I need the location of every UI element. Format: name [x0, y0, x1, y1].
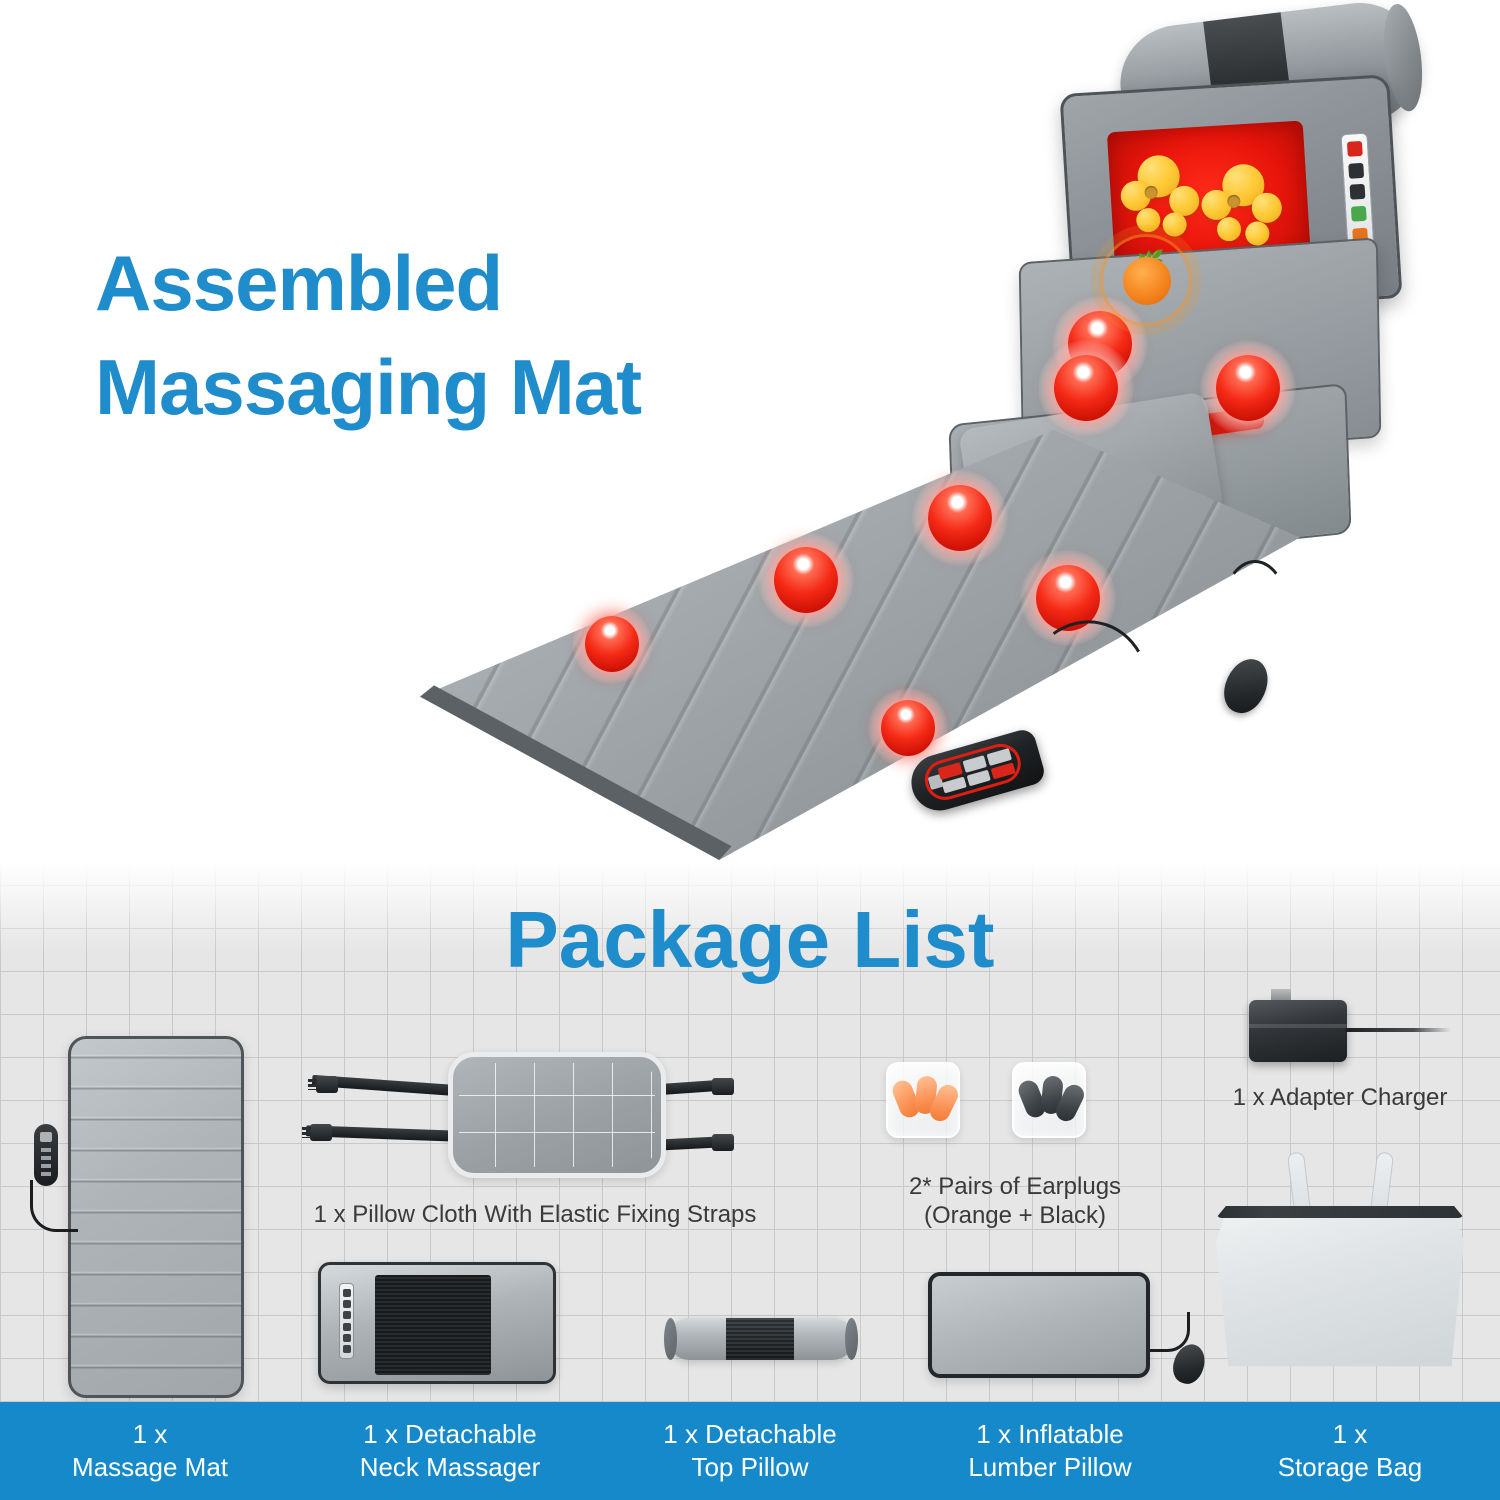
item-mat-remote-icon: [34, 1124, 58, 1186]
strap-buckle-icon: [316, 1076, 338, 1093]
item-neck-massager-image: [318, 1262, 556, 1384]
caption-adapter-charger: 1 x Adapter Charger: [1180, 1083, 1500, 1112]
item-mat-cord: [30, 1180, 78, 1232]
speed-button-icon[interactable]: [1350, 184, 1366, 200]
label-top-pillow: 1 x Detachable Top Pillow: [600, 1402, 900, 1500]
label-line2: Storage Bag: [1278, 1451, 1423, 1484]
label-line1: 1 x Detachable: [363, 1418, 536, 1451]
mat-quilt-channels: [420, 430, 1300, 860]
vibration-node-icon: [758, 532, 854, 628]
power-button-icon[interactable]: [1347, 141, 1363, 157]
caption-pillow-cloth: 1 x Pillow Cloth With Elastic Fixing Str…: [200, 1200, 870, 1229]
strap-buckle-icon: [712, 1134, 734, 1151]
neck-massager-mesh-panel: [375, 1275, 491, 1375]
strap-buckle-icon: [310, 1124, 332, 1141]
label-massage-mat: 1 x Massage Mat: [0, 1402, 300, 1500]
pillow-mesh-band: [726, 1318, 794, 1360]
package-list-title: Package List: [0, 894, 1500, 986]
item-adapter-charger-image: [1249, 1000, 1347, 1062]
vibration-node-icon: [912, 470, 1008, 566]
heat-button-icon[interactable]: [1351, 206, 1367, 222]
label-line2: Massage Mat: [72, 1451, 228, 1484]
aroma-node-icon: 🌿: [1100, 234, 1192, 326]
bag-zipper: [1216, 1206, 1464, 1218]
item-lumbar-pillow-image: [928, 1272, 1150, 1378]
item-pillow-cloth-image: [448, 1052, 666, 1178]
adapter-cable: [1345, 1028, 1451, 1032]
caption-earplugs-line1: 2* Pairs of Earplugs: [870, 1172, 1160, 1201]
label-storage-bag: 1 x Storage Bag: [1200, 1402, 1500, 1500]
vibration-node-icon: [1200, 340, 1296, 436]
kneading-node-cluster-left: [1118, 151, 1201, 248]
mode-button-icon[interactable]: [1348, 163, 1364, 179]
item-storage-bag-image: [1216, 1205, 1464, 1373]
neck-massager-control-panel[interactable]: [1340, 133, 1374, 252]
item-earplugs-orange-image: [886, 1062, 960, 1138]
label-line2: Neck Massager: [360, 1451, 541, 1484]
label-line1: 1 x: [133, 1418, 168, 1451]
leaf-icon: 🌿: [1137, 251, 1161, 273]
caption-earplugs-line2: (Orange + Black): [870, 1201, 1160, 1230]
vibration-node-icon: [572, 604, 652, 684]
vibration-node-icon: [1038, 340, 1134, 436]
item-top-pillow-image: [668, 1318, 854, 1360]
label-neck-massager: 1 x Detachable Neck Massager: [300, 1402, 600, 1500]
caption-earplugs: 2* Pairs of Earplugs (Orange + Black): [870, 1172, 1160, 1231]
label-line2: Lumber Pillow: [968, 1451, 1131, 1484]
strap-buckle-icon: [712, 1078, 734, 1095]
hero-section: Assembled Massaging Mat: [0, 0, 1500, 886]
pillow-end-cap-right: [845, 1318, 858, 1360]
label-lumber-pillow: 1 x Inflatable Lumber Pillow: [900, 1402, 1200, 1500]
label-line1: 1 x Detachable: [663, 1418, 836, 1451]
label-line2: Top Pillow: [691, 1451, 808, 1484]
neck-massager-button-strip: [339, 1283, 354, 1359]
pillow-end-cap-left: [664, 1318, 677, 1360]
item-earplugs-black-image: [1012, 1062, 1086, 1138]
label-line1: 1 x Inflatable: [976, 1418, 1123, 1451]
assembled-massage-mat-photo: 🌿: [420, 0, 1500, 886]
package-label-bar: 1 x Massage Mat 1 x Detachable Neck Mass…: [0, 1402, 1500, 1500]
label-line1: 1 x: [1333, 1418, 1368, 1451]
pump-cord: [1220, 560, 1290, 670]
